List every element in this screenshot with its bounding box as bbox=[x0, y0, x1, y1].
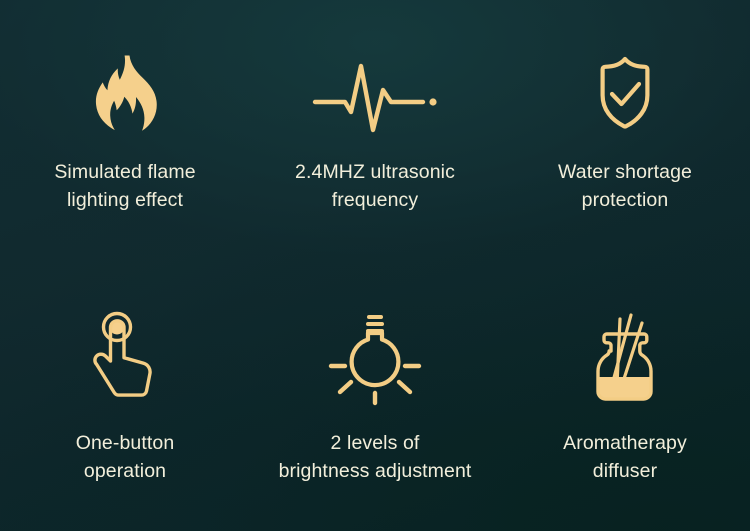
feature-label: 2 levels of brightness adjustment bbox=[279, 429, 472, 485]
feature-card-one-button-operation[interactable]: One-button operation bbox=[0, 266, 250, 531]
feature-card-brightness-adjustment[interactable]: 2 levels of brightness adjustment bbox=[250, 266, 500, 531]
shield-check-icon bbox=[590, 46, 660, 138]
feature-card-water-shortage-protection[interactable]: Water shortage protection bbox=[500, 0, 750, 266]
feature-card-aromatherapy-diffuser[interactable]: Aromatherapy diffuser bbox=[500, 266, 750, 531]
feature-card-ultrasonic-frequency[interactable]: 2.4MHZ ultrasonic frequency bbox=[250, 0, 500, 266]
feature-grid: Simulated flame lighting effect 2.4MHZ u… bbox=[0, 0, 750, 531]
feature-label: Water shortage protection bbox=[558, 158, 692, 214]
feature-label: Simulated flame lighting effect bbox=[54, 158, 195, 214]
feature-label: One-button operation bbox=[76, 429, 175, 485]
hand-tap-icon bbox=[84, 315, 166, 407]
light-bulb-rays-icon bbox=[323, 315, 427, 407]
feature-label: 2.4MHZ ultrasonic frequency bbox=[295, 158, 455, 214]
feature-card-simulated-flame[interactable]: Simulated flame lighting effect bbox=[0, 0, 250, 266]
reed-diffuser-icon bbox=[582, 315, 668, 407]
flame-icon bbox=[88, 46, 162, 138]
pulse-waveform-icon bbox=[311, 46, 439, 138]
feature-label: Aromatherapy diffuser bbox=[563, 429, 687, 485]
feature-board: Simulated flame lighting effect 2.4MHZ u… bbox=[0, 0, 750, 531]
